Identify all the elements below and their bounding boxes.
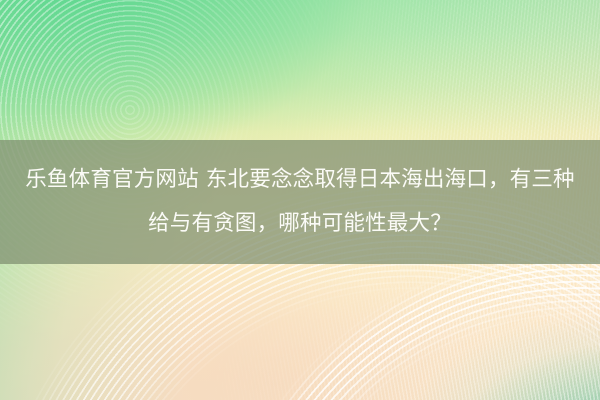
banner-image: 乐鱼体育官方网站 东北要念念取得日本海出海口，有三种给与有贪图，哪种可能性最大？ xyxy=(0,0,600,400)
caption-band: 乐鱼体育官方网站 东北要念念取得日本海出海口，有三种给与有贪图，哪种可能性最大？ xyxy=(0,140,600,264)
caption-headline: 乐鱼体育官方网站 东北要念念取得日本海出海口，有三种给与有贪图，哪种可能性最大？ xyxy=(12,158,588,246)
